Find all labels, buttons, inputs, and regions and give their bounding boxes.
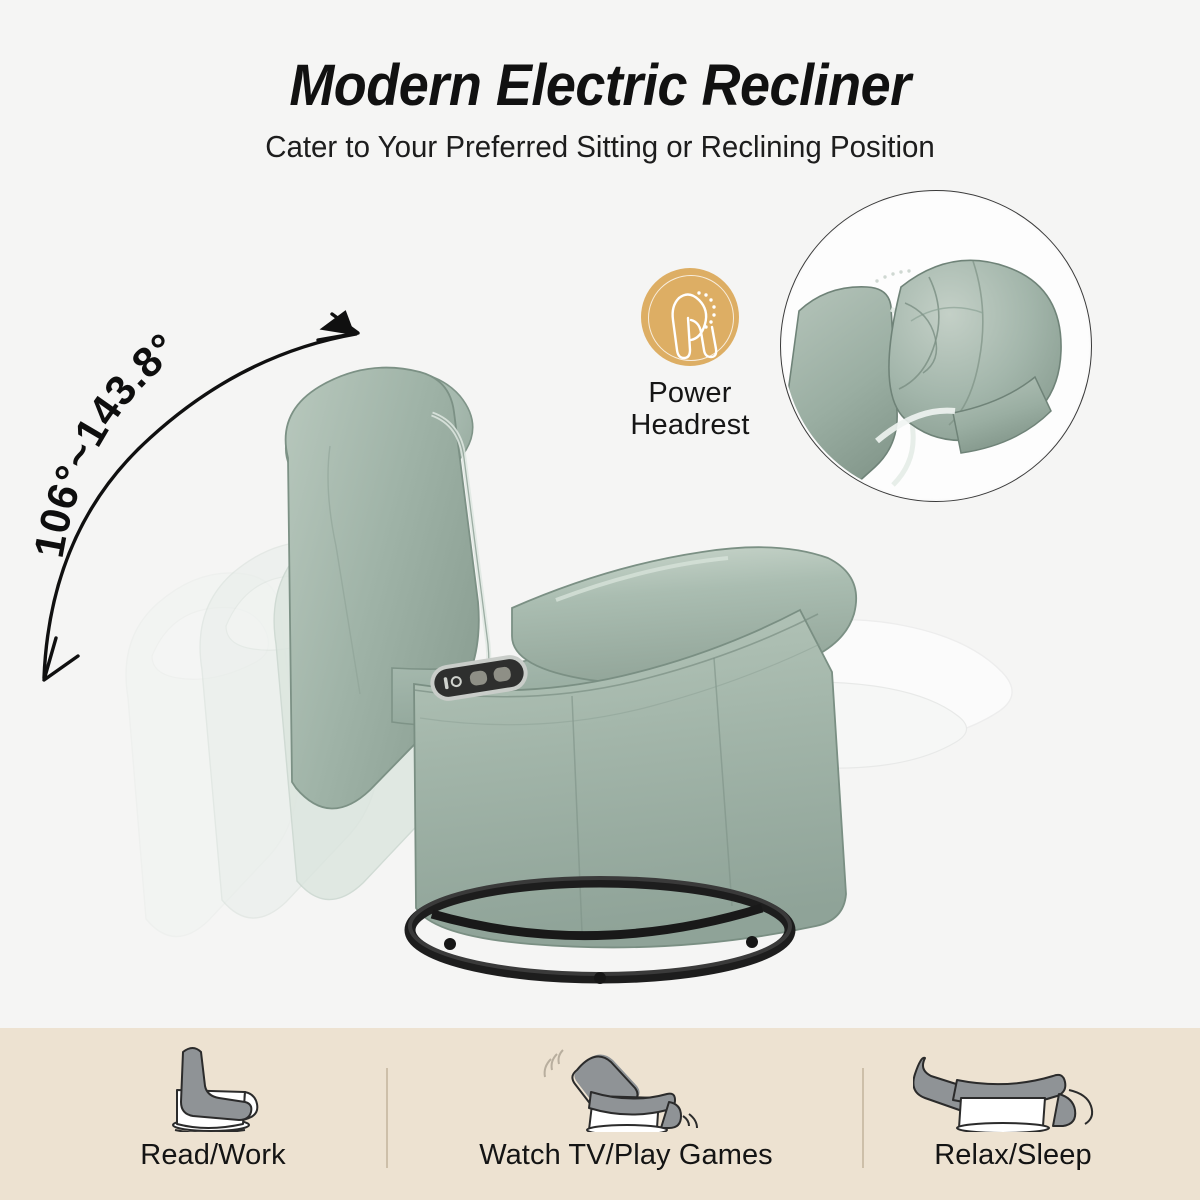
- feature-watch-tv[interactable]: Watch TV/Play Games: [390, 1028, 862, 1200]
- svg-text:106°~143.8°: 106°~143.8°: [25, 323, 186, 561]
- page-title: Modern Electric Recliner: [42, 0, 1158, 119]
- product-infographic: Modern Electric Recliner Cater to Your P…: [0, 0, 1200, 1200]
- feature-divider-2: [862, 1068, 864, 1168]
- header: Modern Electric Recliner Cater to Your P…: [0, 0, 1200, 165]
- feature-divider-1: [386, 1068, 388, 1168]
- feature-label-read-work: Read/Work: [140, 1139, 285, 1172]
- power-headrest-label: Power Headrest: [620, 377, 760, 442]
- chair-flat-icon: [913, 1040, 1113, 1132]
- feature-label-relax-sleep: Relax/Sleep: [934, 1139, 1091, 1172]
- headrest-closeup-circle: [780, 190, 1092, 502]
- page-subtitle: Cater to Your Preferred Sitting or Recli…: [30, 129, 1170, 165]
- chair-reclined-icon: [531, 1040, 721, 1132]
- feature-bar: Read/Work: [0, 1028, 1200, 1200]
- power-headrest-icon: [641, 268, 739, 366]
- feature-label-watch-tv: Watch TV/Play Games: [479, 1139, 773, 1172]
- feature-relax-sleep[interactable]: Relax/Sleep: [866, 1028, 1160, 1200]
- power-headrest-label-line2: Headrest: [620, 409, 760, 441]
- main-illustration: 106°~143.8°: [0, 178, 1200, 1028]
- chair-upright-icon: [133, 1040, 293, 1132]
- power-headrest-label-line1: Power: [620, 377, 760, 409]
- power-headrest-feature: Power Headrest: [620, 268, 760, 442]
- recline-angle-value: 106°~143.8°: [25, 323, 186, 561]
- feature-read-work[interactable]: Read/Work: [40, 1028, 386, 1200]
